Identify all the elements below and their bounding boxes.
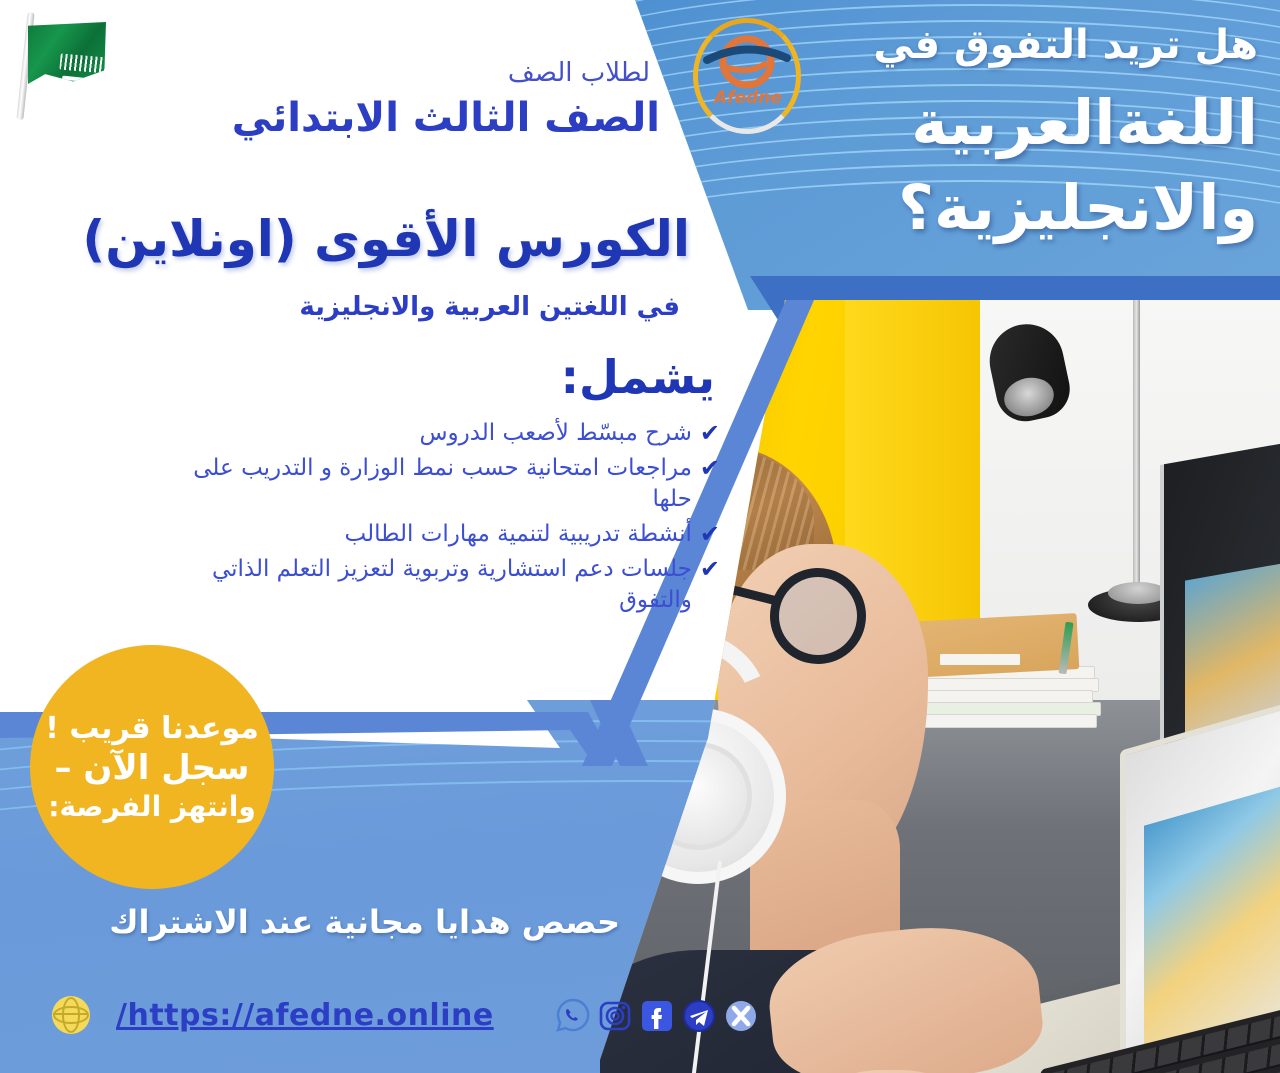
logo-wordmark: Afedne	[707, 88, 789, 108]
afedne-logo: Afedne	[693, 18, 801, 134]
student-photo	[600, 300, 1280, 1073]
website-url-link[interactable]: /https://afedne.online	[116, 998, 494, 1033]
gifts-banner-text: حصص هدايا مجانية عند الاشتراك	[109, 903, 620, 941]
x-twitter-icon[interactable]	[722, 996, 760, 1034]
list-item: ✔ أنشطة تدريبية لتنمية مهارات الطالب	[160, 519, 720, 550]
lamp-pole-shape	[1133, 300, 1140, 600]
social-links	[554, 996, 760, 1034]
includes-label: يشمل:	[561, 350, 715, 404]
footer-bar: /https://afedne.online	[52, 996, 760, 1034]
list-item-label: جلسات دعم استشارية وتربوية لتعزيز التعلم…	[160, 554, 692, 616]
check-icon: ✔	[700, 519, 720, 549]
badge-line-3: وانتهز الفرصة:	[48, 790, 256, 823]
grade-title: الصف الثالث الابتدائي	[232, 95, 660, 141]
badge-line-1: موعدنا قريب !	[45, 711, 259, 746]
course-subtitle: في اللغتين العربية والانجليزية	[299, 292, 680, 322]
saudi-arabia-flag-icon	[4, 2, 114, 120]
course-title: الكورس الأقوى (اونلاين)	[82, 210, 690, 268]
list-item-label: أنشطة تدريبية لتنمية مهارات الطالب	[345, 519, 692, 550]
register-now-badge[interactable]: موعدنا قريب ! سجل الآن – وانتهز الفرصة:	[30, 645, 274, 889]
list-item: ✔ جلسات دعم استشارية وتربوية لتعزيز التع…	[160, 554, 720, 616]
list-item: ✔ مراجعات امتحانية حسب نمط الوزارة و الت…	[160, 453, 720, 515]
list-item-label: مراجعات امتحانية حسب نمط الوزارة و التدر…	[160, 453, 692, 515]
telegram-icon[interactable]	[680, 996, 718, 1034]
check-icon: ✔	[700, 418, 720, 448]
list-item: ✔ شرح مبسّط لأصعب الدروس	[160, 418, 720, 449]
check-icon: ✔	[700, 453, 720, 483]
globe-icon	[52, 996, 90, 1034]
kicker-text: لطلاب الصف	[508, 58, 650, 88]
poster-root: هل تريد التفوق في اللغةالعربية والانجليز…	[0, 0, 1280, 1073]
whatsapp-icon[interactable]	[554, 996, 592, 1034]
badge-line-2: سجل الآن –	[55, 748, 250, 788]
instagram-icon[interactable]	[596, 996, 634, 1034]
headline-line-3: والانجليزية؟	[618, 171, 1258, 244]
check-icon: ✔	[700, 554, 720, 584]
facebook-icon[interactable]	[638, 996, 676, 1034]
features-list: ✔ شرح مبسّط لأصعب الدروس ✔ مراجعات امتحا…	[160, 418, 720, 620]
list-item-label: شرح مبسّط لأصعب الدروس	[419, 418, 691, 449]
